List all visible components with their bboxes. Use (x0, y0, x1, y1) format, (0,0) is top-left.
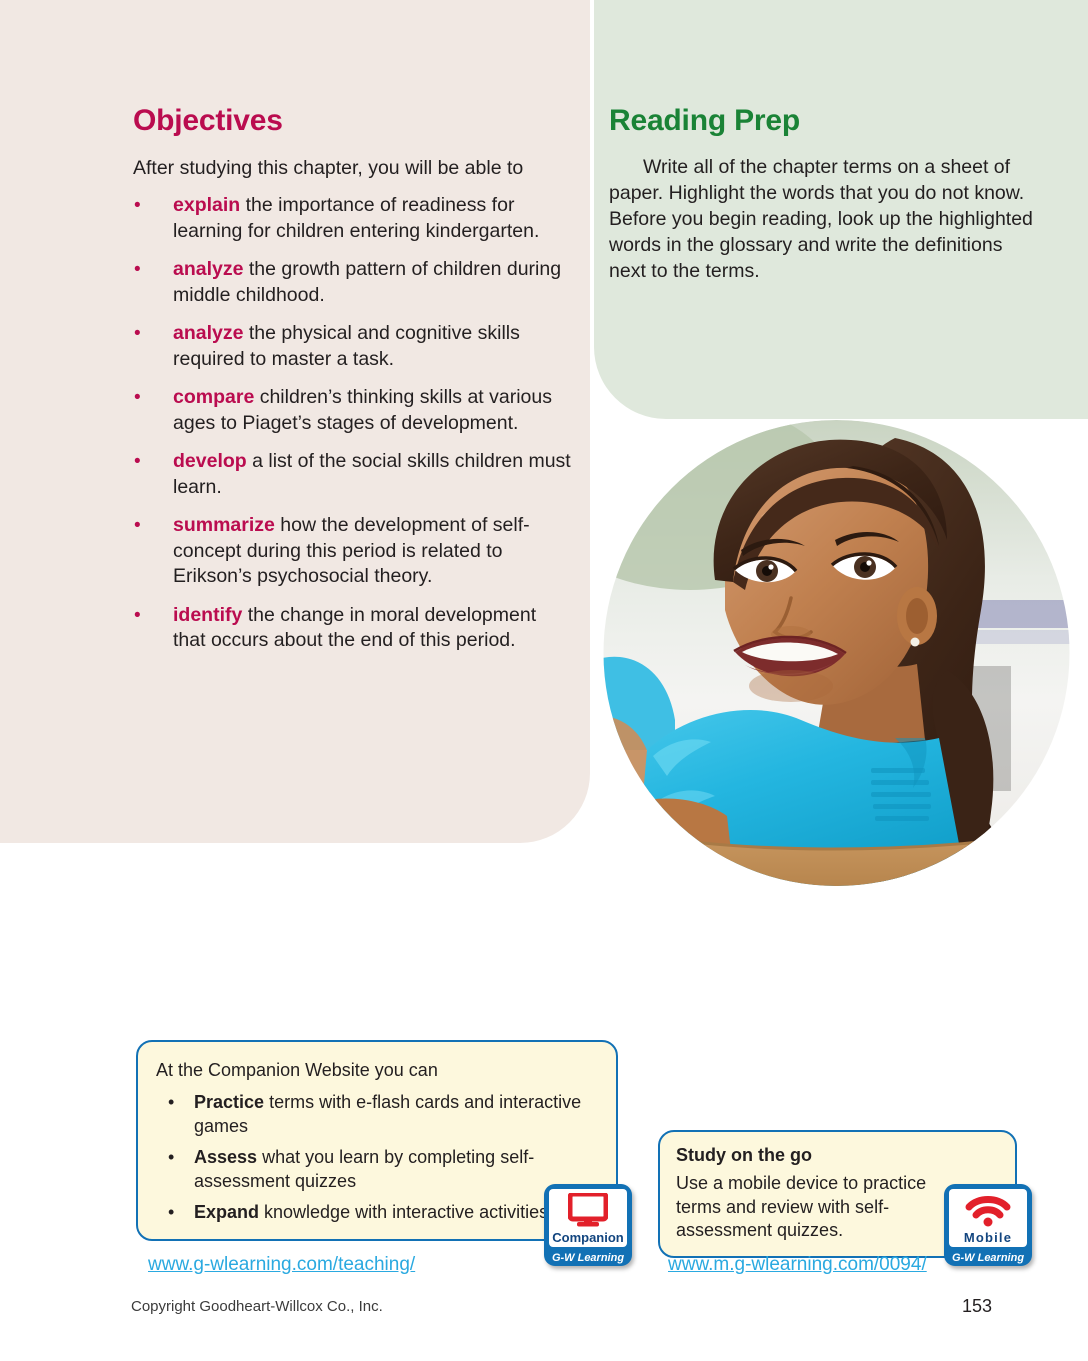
bullet-icon: • (134, 513, 141, 539)
companion-list: •Practice terms with e-flash cards and i… (156, 1091, 598, 1225)
bullet-icon: • (168, 1091, 174, 1115)
bullet-icon: • (134, 193, 141, 219)
wifi-icon (949, 1193, 1027, 1227)
objective-verb: develop (173, 450, 247, 472)
companion-term: Expand (194, 1202, 259, 1222)
mobile-badge-footer: G-W Learning (949, 1247, 1027, 1269)
list-item: •analyze the growth pattern of children … (133, 257, 573, 308)
reading-prep-body: Write all of the chapter terms on a shee… (609, 154, 1034, 284)
bullet-icon: • (134, 257, 141, 283)
student-photo-illustration (595, 420, 1078, 886)
reading-prep-title: Reading Prep (609, 104, 1034, 138)
companion-text: knowledge with interactive activities (259, 1202, 548, 1222)
bullet-icon: • (168, 1146, 174, 1170)
study-on-the-go-body: Use a mobile device to practice terms an… (676, 1172, 946, 1243)
objectives-title: Objectives (133, 104, 573, 138)
monitor-icon (549, 1193, 627, 1227)
objective-verb: summarize (173, 514, 275, 536)
bullet-icon: • (134, 321, 141, 347)
objective-verb: identify (173, 604, 242, 626)
bullet-icon: • (168, 1201, 174, 1225)
mobile-learning-badge[interactable]: Mobile G-W Learning (944, 1184, 1032, 1266)
bullet-icon: • (134, 449, 141, 475)
student-photo (595, 420, 1078, 886)
list-item: •compare children’s thinking skills at v… (133, 385, 573, 436)
list-item: •analyze the physical and cognitive skil… (133, 321, 573, 372)
mobile-badge-word: Mobile (949, 1230, 1027, 1245)
page-number: 153 (962, 1296, 992, 1317)
list-item: •develop a list of the social skills chi… (133, 449, 573, 500)
companion-badge-inner: Companion (549, 1189, 627, 1247)
list-item: •Expand knowledge with interactive activ… (156, 1201, 598, 1225)
reading-prep-section: Reading Prep Write all of the chapter te… (609, 104, 1034, 284)
objective-verb: analyze (173, 258, 243, 280)
companion-website-url[interactable]: www.g-wlearning.com/teaching/ (148, 1254, 415, 1276)
list-item: •Practice terms with e-flash cards and i… (156, 1091, 598, 1138)
list-item: •identify the change in moral developmen… (133, 603, 573, 654)
study-on-the-go-heading: Study on the go (676, 1145, 999, 1166)
objectives-list: •explain the importance of readiness for… (133, 193, 573, 654)
mobile-badge-inner: Mobile (949, 1189, 1027, 1247)
mobile-website-url[interactable]: www.m.g-wlearning.com/0094/ (668, 1254, 927, 1276)
objective-verb: explain (173, 194, 240, 216)
companion-term: Practice (194, 1092, 264, 1112)
companion-badge-footer: G-W Learning (549, 1247, 627, 1269)
list-item: •explain the importance of readiness for… (133, 193, 573, 244)
bullet-icon: • (134, 603, 141, 629)
objectives-intro: After studying this chapter, you will be… (133, 156, 573, 181)
objective-verb: analyze (173, 322, 243, 344)
objective-verb: compare (173, 386, 254, 408)
companion-term: Assess (194, 1147, 257, 1167)
list-item: •summarize how the development of self-c… (133, 513, 573, 590)
copyright-notice: Copyright Goodheart-Willcox Co., Inc. (131, 1298, 383, 1315)
objectives-section: Objectives After studying this chapter, … (133, 104, 573, 667)
bullet-icon: • (134, 385, 141, 411)
companion-learning-badge[interactable]: Companion G-W Learning (544, 1184, 632, 1266)
companion-badge-word: Companion (549, 1230, 627, 1245)
companion-intro: At the Companion Website you can (156, 1058, 598, 1082)
list-item: •Assess what you learn by completing sel… (156, 1146, 598, 1193)
